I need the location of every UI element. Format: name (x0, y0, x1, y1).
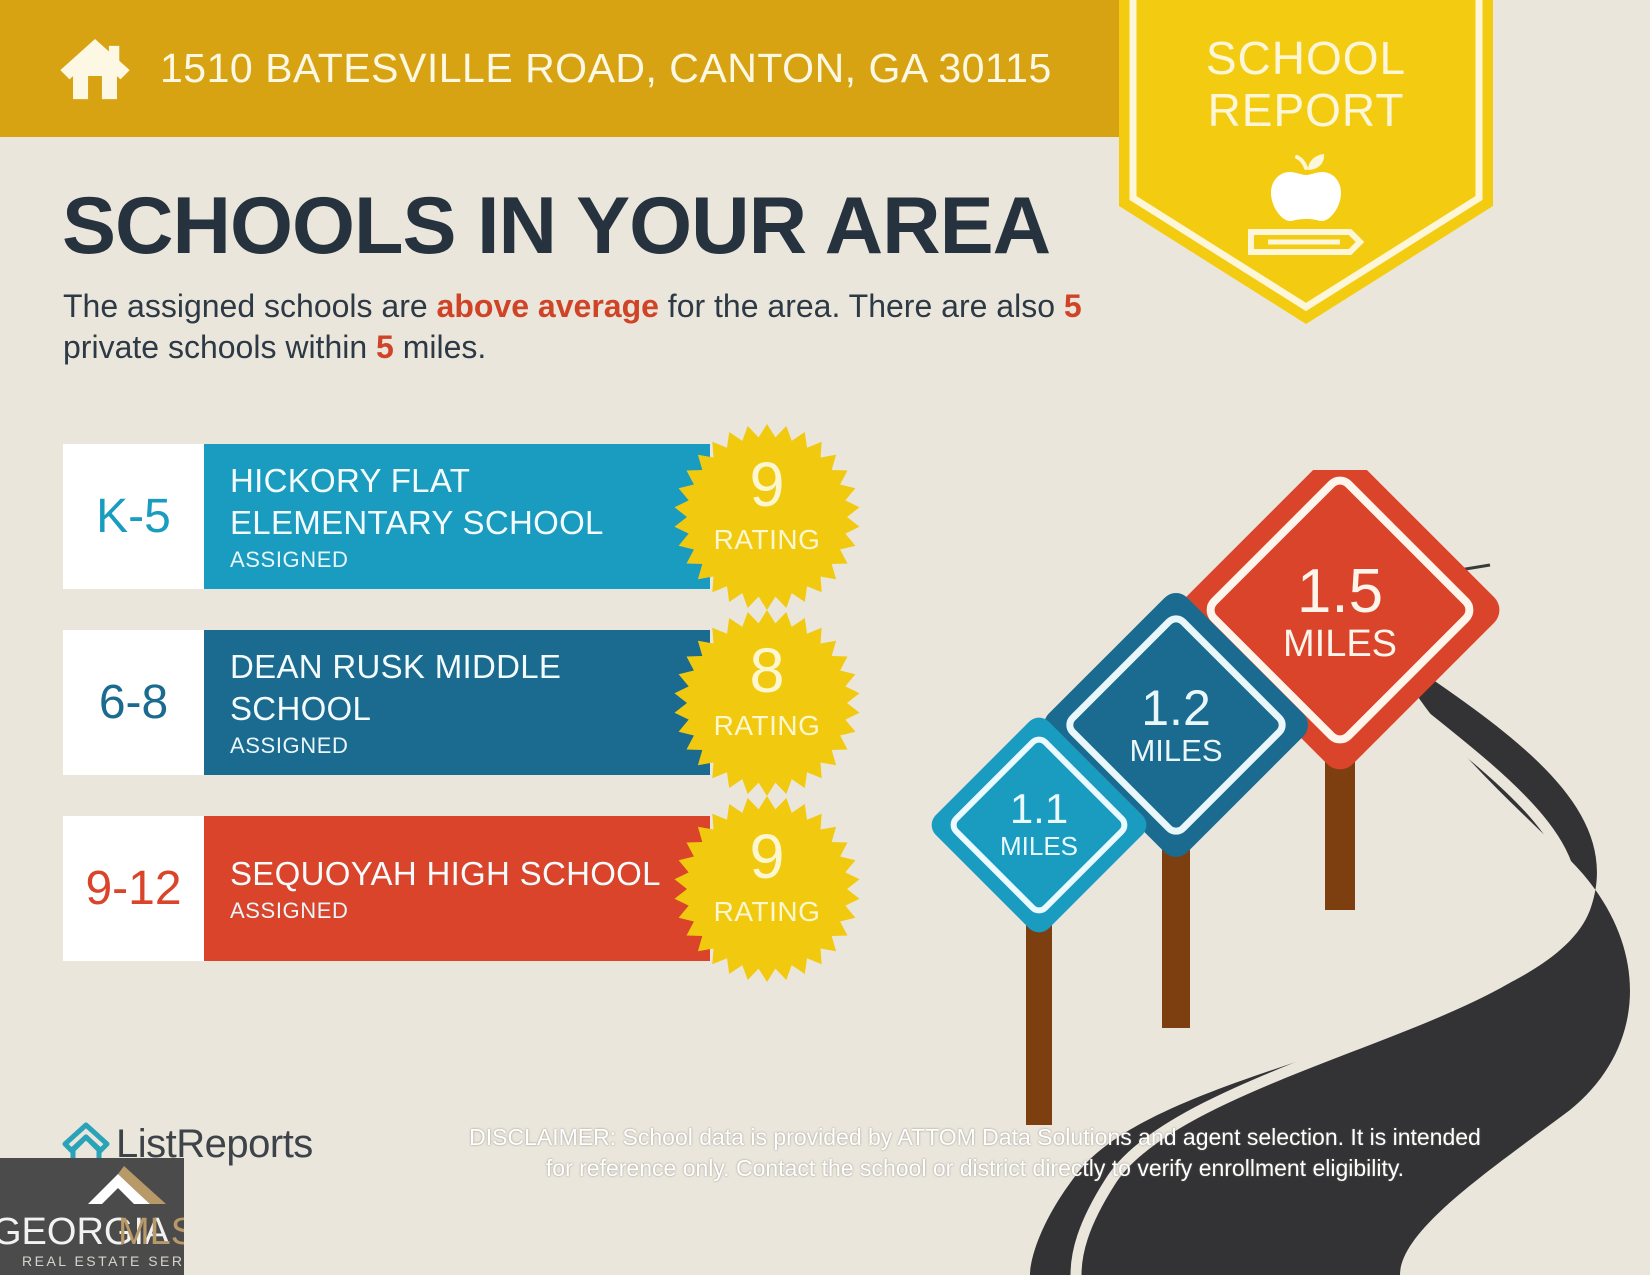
mls-tagline: REAL ESTATE SERVICES (22, 1253, 184, 1269)
school-status: ASSIGNED (230, 898, 710, 924)
school-name: SEQUOYAH HIGH SCHOOL (230, 853, 685, 895)
georgia-mls-logo: GEORGIA MLS REAL ESTATE SERVICES (0, 1158, 184, 1275)
home-icon (58, 32, 132, 106)
header-bar: 1510 BATESVILLE ROAD, CANTON, GA 30115 (0, 0, 1176, 137)
sign-post (1162, 828, 1190, 1028)
school-row[interactable]: 9-12 SEQUOYAH HIGH SCHOOL ASSIGNED (63, 816, 710, 961)
badge-shape (1119, 0, 1493, 324)
subtitle-highlight-rating: above average (437, 288, 659, 324)
georgia-mls-watermark: GEORGIA MLS REAL ESTATE SERVICES (0, 1158, 184, 1275)
grade-range-box: 9-12 (63, 816, 204, 961)
mls-name-mls: MLS (118, 1211, 184, 1253)
sign-post (1026, 925, 1052, 1125)
property-address: 1510 BATESVILLE ROAD, CANTON, GA 30115 (160, 45, 1052, 92)
school-bar: DEAN RUSK MIDDLE SCHOOL ASSIGNED (204, 630, 710, 775)
sign-distance-value: 1.1 (1010, 785, 1068, 832)
subtitle-highlight-radius: 5 (376, 329, 394, 365)
subtitle-part-4: miles. (394, 329, 486, 365)
school-status: ASSIGNED (230, 733, 710, 759)
disclaimer-text: DISCLAIMER: School data is provided by A… (460, 1122, 1490, 1184)
subtitle-part-3: private schools within (63, 329, 376, 365)
sign-distance-unit: MILES (1283, 623, 1397, 665)
subtitle-part-2: for the area. There are also (659, 288, 1064, 324)
grade-range-box: K-5 (63, 444, 204, 589)
school-name: HICKORY FLAT ELEMENTARY SCHOOL (230, 460, 685, 544)
subtitle-highlight-count: 5 (1064, 288, 1082, 324)
sign-distance-unit: MILES (1129, 733, 1222, 768)
subtitle: The assigned schools are above average f… (63, 286, 1093, 368)
school-row[interactable]: 6-8 DEAN RUSK MIDDLE SCHOOL ASSIGNED (63, 630, 710, 775)
sign-distance-value: 1.2 (1141, 680, 1211, 736)
infographic-canvas: 1510 BATESVILLE ROAD, CANTON, GA 30115 S… (0, 0, 1650, 1275)
page-title: SCHOOLS IN YOUR AREA (62, 186, 1050, 267)
sign-distance-value: 1.5 (1297, 557, 1383, 626)
school-status: ASSIGNED (230, 547, 710, 573)
school-report-badge: SCHOOL REPORT (1119, 0, 1493, 324)
school-bar: HICKORY FLAT ELEMENTARY SCHOOL ASSIGNED (204, 444, 710, 589)
grade-range-box: 6-8 (63, 630, 204, 775)
school-row[interactable]: K-5 HICKORY FLAT ELEMENTARY SCHOOL ASSIG… (63, 444, 710, 589)
subtitle-part-1: The assigned schools are (63, 288, 437, 324)
school-bar: SEQUOYAH HIGH SCHOOL ASSIGNED (204, 816, 710, 961)
school-name: DEAN RUSK MIDDLE SCHOOL (230, 646, 685, 730)
sign-distance-unit: MILES (1000, 831, 1078, 861)
